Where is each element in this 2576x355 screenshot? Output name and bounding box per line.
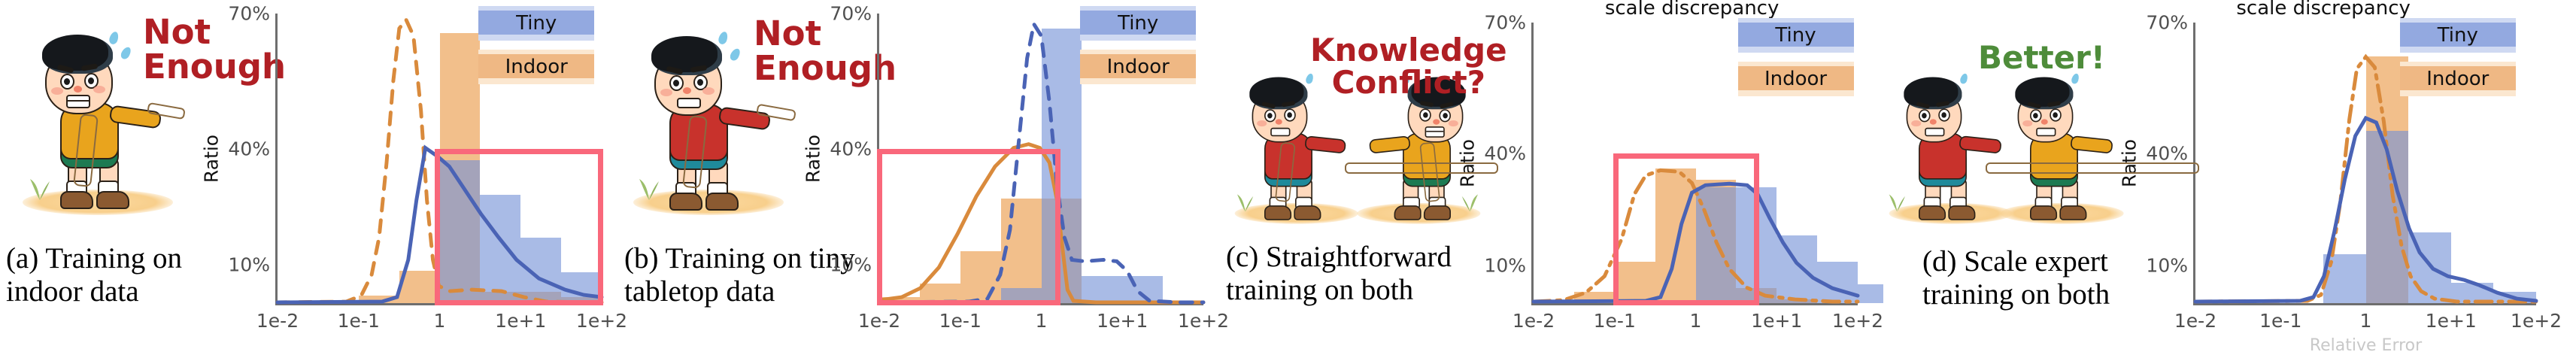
- figure-root: Not Enough (a) Training on indoor data 7…: [0, 0, 2576, 350]
- nose: [2041, 119, 2048, 124]
- cheek-blush: [660, 89, 672, 96]
- y-tick-40: 40%: [228, 138, 270, 159]
- x-tick-1: 1: [1690, 310, 1702, 332]
- x-tick-1: 1: [434, 310, 446, 332]
- highlight-box-3: [1613, 153, 1759, 305]
- cheek-blush: [1911, 120, 1921, 126]
- legend-item-tiny: Tiny: [2400, 18, 2516, 53]
- x-tick-1e-2: 1e-2: [256, 310, 299, 332]
- x-tick-1e+1: 1e+1: [1751, 310, 1802, 332]
- nose: [1930, 119, 1937, 124]
- legend-item-indoor: Indoor: [1738, 62, 1854, 96]
- panel-a: Not Enough (a) Training on indoor data 7…: [0, 0, 624, 350]
- eye: [1419, 108, 1431, 121]
- x-tick-1e-1: 1e-1: [1594, 310, 1636, 332]
- sweat-drop-icon: [108, 31, 120, 46]
- y-axis-label-2: Ratio: [802, 134, 824, 182]
- eye: [1938, 108, 1950, 121]
- panel-a-caption: (a) Training on indoor data: [6, 242, 232, 308]
- x-tick-1e+2: 1e+2: [2511, 310, 2562, 332]
- eye: [2030, 109, 2042, 122]
- panel-d-shout: Better!: [1978, 42, 2105, 74]
- y-tick-10: 10%: [1484, 255, 1526, 277]
- y-tick-10: 10%: [228, 253, 270, 275]
- shoe: [1919, 205, 1946, 220]
- eye: [1919, 109, 1931, 122]
- x-tick-1e-2: 1e-2: [858, 310, 900, 332]
- shoe: [1394, 205, 1422, 220]
- y-axis-label-1: Ratio: [200, 134, 222, 182]
- rope: [1345, 162, 1498, 174]
- rope: [1986, 162, 2199, 174]
- shoe: [669, 193, 702, 211]
- hair: [1904, 77, 1962, 110]
- kde-tiny-4: [2195, 118, 2536, 302]
- y-tick-40: 40%: [2146, 143, 2188, 165]
- shoe: [1948, 205, 1975, 220]
- legend-label-indoor: Indoor: [2400, 62, 2516, 96]
- eye: [2050, 108, 2062, 121]
- legend-2: Tiny Indoor: [1080, 6, 1196, 93]
- cheek-blush: [1257, 120, 1267, 126]
- shoe: [1264, 205, 1291, 220]
- legend-item-tiny: Tiny: [478, 6, 594, 41]
- sweat-drop-icon: [119, 45, 132, 60]
- grass-icon: [1888, 190, 1907, 211]
- shoe: [2059, 205, 2086, 220]
- y-tick-10: 10%: [830, 253, 872, 275]
- y-tick-40: 40%: [830, 138, 872, 159]
- illustration-panel-d-left-boy: [1888, 72, 2017, 226]
- nose: [74, 86, 82, 93]
- grass-icon: [1236, 190, 1255, 211]
- legend-item-indoor: Indoor: [2400, 62, 2516, 96]
- sweat-drop-icon: [728, 47, 742, 62]
- eye: [1264, 109, 1276, 122]
- nose: [1433, 119, 1440, 124]
- plot-area-3: 70% 40% 10% Ratio 1e-2 1e-1 1 1e+1 1e+2 …: [1531, 23, 1858, 305]
- plot-area-1: 70% 40% 10% Ratio 1e-2 1e-1 1 1e+1 1e+2: [275, 14, 602, 305]
- y-tick-10: 10%: [2146, 255, 2188, 277]
- x-axis-label-4: Relative Error: [2310, 336, 2422, 355]
- nose: [683, 87, 691, 94]
- hair: [651, 36, 722, 75]
- cheek-blush: [702, 87, 715, 95]
- eye: [1284, 108, 1296, 121]
- y-tick-70: 70%: [2146, 12, 2188, 34]
- cheek-blush: [93, 86, 105, 93]
- x-tick-1: 1: [2360, 310, 2372, 332]
- shoe: [705, 193, 739, 211]
- panel-c: Knowledge Conflict? (c) Straightforward …: [1218, 0, 1873, 350]
- chart-title-4: scale discrepancy: [2236, 0, 2411, 20]
- sweat-drop-icon: [718, 31, 730, 46]
- legend-label-tiny: Tiny: [1738, 18, 1854, 53]
- eye: [669, 75, 684, 91]
- legend-label-tiny: Tiny: [478, 6, 594, 41]
- chart-panel-c: 70% 40% 10% Ratio 1e-2 1e-1 1 1e+1 1e+2 …: [1504, 0, 1873, 350]
- legend-label-tiny: Tiny: [2400, 18, 2516, 53]
- shoe: [96, 191, 129, 209]
- mouth: [1925, 128, 1944, 136]
- x-tick-1e-2: 1e-2: [2174, 310, 2216, 332]
- x-tick-1e+1: 1e+1: [495, 310, 546, 332]
- y-tick-40: 40%: [1484, 143, 1526, 165]
- legend-1: Tiny Indoor: [478, 6, 594, 93]
- panel-c-shout: Knowledge Conflict?: [1310, 35, 1507, 99]
- legend-item-tiny: Tiny: [1738, 18, 1854, 53]
- y-tick-70: 70%: [830, 3, 872, 25]
- hair: [2015, 77, 2073, 110]
- cheek-blush: [1449, 120, 1458, 126]
- panel-d: Better! (d) Scale expert training on bot…: [1873, 0, 2576, 350]
- chart-title-3: scale discrepancy: [1605, 0, 1780, 20]
- legend-label-tiny: Tiny: [1080, 6, 1196, 41]
- legend-label-indoor: Indoor: [1080, 50, 1196, 84]
- x-tick-1e-1: 1e-1: [939, 310, 982, 332]
- mouth: [677, 98, 701, 108]
- grass-icon: [1461, 190, 1479, 211]
- legend-item-indoor: Indoor: [1080, 50, 1196, 84]
- nose: [1276, 119, 1282, 124]
- cheek-blush: [51, 87, 63, 95]
- shoe: [60, 191, 93, 209]
- eye: [60, 74, 74, 90]
- legend-item-indoor: Indoor: [478, 50, 594, 84]
- panel-c-caption: (c) Straightforward training on both: [1226, 241, 1504, 306]
- x-tick-1e+1: 1e+1: [1097, 310, 1148, 332]
- legend-item-tiny: Tiny: [1080, 6, 1196, 41]
- eye: [1439, 109, 1451, 122]
- hair: [1249, 77, 1307, 110]
- shoe: [2030, 205, 2057, 220]
- shoe: [1294, 205, 1321, 220]
- legend-label-indoor: Indoor: [1738, 62, 1854, 96]
- chart-panel-a: 70% 40% 10% Ratio 1e-2 1e-1 1 1e+1 1e+2: [248, 0, 624, 350]
- x-tick-1: 1: [1036, 310, 1048, 332]
- x-tick-1e+2: 1e+2: [576, 310, 627, 332]
- x-tick-1e+1: 1e+1: [2426, 310, 2477, 332]
- legend-3: Tiny Indoor: [1738, 18, 1854, 105]
- chart-panel-d: 70% 40% 10% Ratio 1e-2 1e-1 1 1e+1 1e+2 …: [2166, 0, 2576, 350]
- grass-icon: [29, 174, 51, 200]
- plot-area-2: 70% 40% 10% Ratio 1e-2 1e-1 1 1e+1 1e+2: [877, 14, 1203, 305]
- plot-area-4: 70% 40% 10% Ratio 1e-2 1e-1 1 1e+1 1e+2 …: [2193, 23, 2536, 305]
- sweat-drop-icon: [1959, 73, 1969, 85]
- panel-d-caption: (d) Scale expert training on both: [1922, 245, 2171, 311]
- x-tick-1e-1: 1e-1: [338, 310, 380, 332]
- shoe: [1424, 205, 1451, 220]
- illustration-panel-d-right-boy: [1999, 72, 2128, 226]
- x-tick-1e-2: 1e-2: [1513, 310, 1555, 332]
- mouth: [1425, 126, 1445, 138]
- mouth: [1270, 128, 1290, 136]
- panel-b: Not Enough (b) Training on tiny tabletop…: [624, 0, 1218, 350]
- y-tick-70: 70%: [1484, 12, 1526, 34]
- chart-panel-b: 70% 40% 10% Ratio 1e-2 1e-1 1 1e+1 1e+2: [850, 0, 1218, 350]
- hair: [42, 35, 113, 74]
- grass-icon: [638, 174, 660, 200]
- legend-4: Tiny Indoor: [2400, 18, 2516, 105]
- y-tick-70: 70%: [228, 3, 270, 25]
- highlight-box-2: [877, 149, 1060, 305]
- legend-label-indoor: Indoor: [478, 50, 594, 84]
- mouth: [2036, 128, 2056, 136]
- x-tick-1e-1: 1e-1: [2259, 310, 2301, 332]
- highlight-box-1: [435, 149, 603, 305]
- mouth: [66, 95, 90, 108]
- cheek-blush: [2022, 120, 2032, 126]
